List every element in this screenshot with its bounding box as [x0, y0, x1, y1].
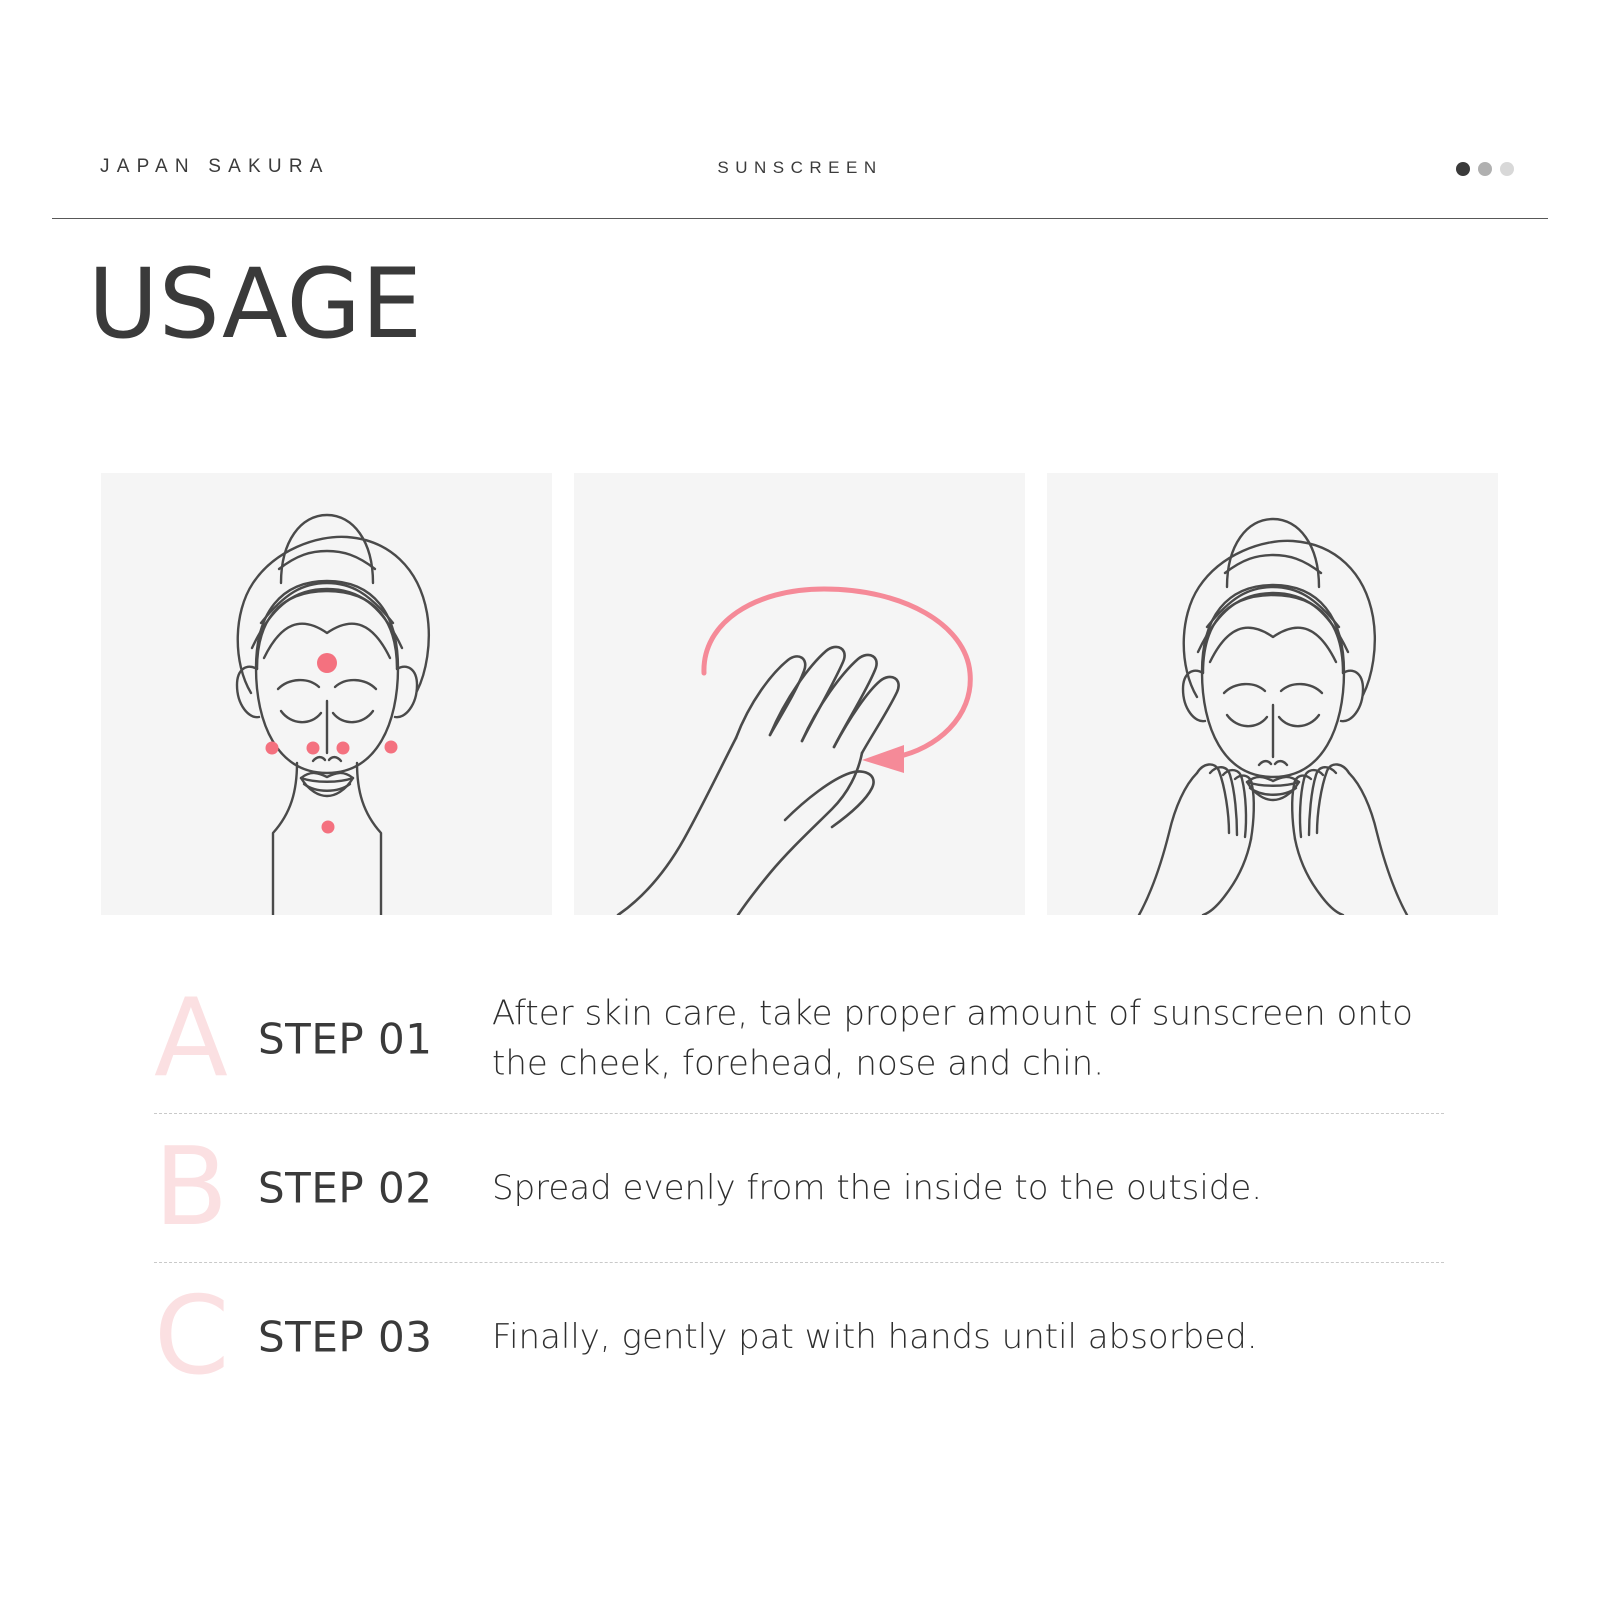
header-product-title: SUNSCREEN — [52, 158, 1548, 178]
page-header: JAPAN SAKURA SUNSCREEN — [52, 148, 1548, 218]
step-letter-b: B — [154, 1134, 264, 1242]
panel-hand-spreading — [574, 473, 1025, 915]
header-divider — [52, 218, 1548, 219]
hand-spreading-illustration — [574, 473, 1025, 915]
step-label-02: STEP 02 — [258, 1164, 432, 1213]
step-row: A STEP 01 After skin care, take proper a… — [140, 965, 1460, 1113]
pagination-dot-2-icon[interactable] — [1478, 162, 1492, 176]
step-description-02: Spread evenly from the inside to the out… — [492, 1164, 1262, 1212]
step-row: B STEP 02 Spread evenly from the inside … — [140, 1114, 1460, 1262]
step-row: C STEP 03 Finally, gently pat with hands… — [140, 1263, 1460, 1411]
panel-face-patting — [1047, 473, 1498, 915]
step-label-01: STEP 01 — [258, 1015, 432, 1064]
slide-page: JAPAN SAKURA SUNSCREEN USAGE — [0, 0, 1600, 1600]
face-patting-illustration — [1047, 473, 1498, 915]
step-description-01: After skin care, take proper amount of s… — [492, 989, 1460, 1088]
pagination-dot-3-icon[interactable] — [1500, 162, 1514, 176]
page-title: USAGE — [88, 256, 423, 352]
face-with-dots-illustration — [101, 473, 552, 915]
arrow-head-icon — [862, 745, 904, 773]
illustration-panels — [101, 473, 1499, 915]
step-description-03: Finally, gently pat with hands until abs… — [492, 1313, 1258, 1361]
sunscreen-dots — [266, 653, 398, 834]
panel-face-with-dots — [101, 473, 552, 915]
pagination-dot-1-icon[interactable] — [1456, 162, 1470, 176]
pagination-dots[interactable] — [1456, 162, 1514, 176]
step-letter-a: A — [154, 985, 264, 1093]
steps-list: A STEP 01 After skin care, take proper a… — [140, 965, 1460, 1411]
step-letter-c: C — [154, 1283, 264, 1391]
step-label-03: STEP 03 — [258, 1313, 432, 1362]
